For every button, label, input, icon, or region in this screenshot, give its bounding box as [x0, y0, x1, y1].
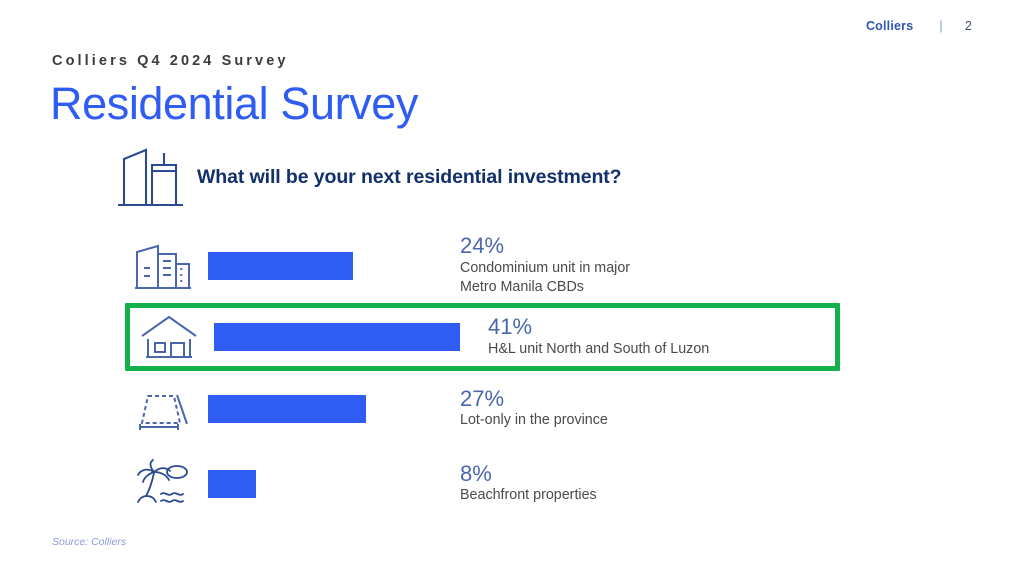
two-buildings-icon [113, 143, 187, 211]
survey-chart: 24% Condominium unit in major Metro Mani… [0, 228, 1024, 521]
bar-track [208, 252, 460, 280]
row-labels: 41% H&L unit North and South of Luzon [488, 315, 709, 359]
row-labels: 24% Condominium unit in major Metro Mani… [460, 234, 630, 297]
percent-value: 41% [488, 315, 709, 340]
percent-value: 24% [460, 234, 630, 259]
bar-track [214, 323, 466, 351]
row-description: H&L unit North and South of Luzon [488, 340, 709, 359]
house-icon [138, 311, 200, 363]
page-number: 2 [965, 19, 972, 33]
bar-fill [208, 252, 353, 280]
chart-row-beachfront: 8% Beachfront properties [0, 446, 1024, 521]
row-description: Beachfront properties [460, 486, 597, 505]
chart-row-condominium: 24% Condominium unit in major Metro Mani… [0, 228, 1024, 303]
source-note: Source: Colliers [52, 536, 126, 548]
question-header: What will be your next residential inves… [113, 143, 622, 211]
eyebrow-text: Colliers Q4 2024 Survey [52, 53, 289, 69]
brand-separator: | [939, 19, 942, 33]
question-text: What will be your next residential inves… [197, 166, 622, 189]
bar-track [208, 395, 460, 423]
row-description: Condominium unit in major Metro Manila C… [460, 259, 630, 297]
land-lot-icon [132, 383, 194, 435]
bar-track [208, 470, 460, 498]
percent-value: 27% [460, 387, 608, 412]
beach-palm-icon [132, 458, 194, 510]
chart-row-house-and-lot[interactable]: 41% H&L unit North and South of Luzon [125, 303, 840, 371]
brand-name: Colliers [866, 19, 913, 33]
bar-fill [214, 323, 460, 351]
row-labels: 8% Beachfront properties [460, 462, 597, 506]
row-labels: 27% Lot-only in the province [460, 387, 608, 431]
row-description: Lot-only in the province [460, 411, 608, 430]
chart-row-lot-only: 27% Lot-only in the province [0, 371, 1024, 446]
brand-bar: Colliers | 2 [866, 19, 972, 33]
page-title: Residential Survey [50, 78, 418, 130]
bar-fill [208, 470, 256, 498]
condo-building-icon [132, 240, 194, 292]
percent-value: 8% [460, 462, 597, 487]
bar-fill [208, 395, 366, 423]
